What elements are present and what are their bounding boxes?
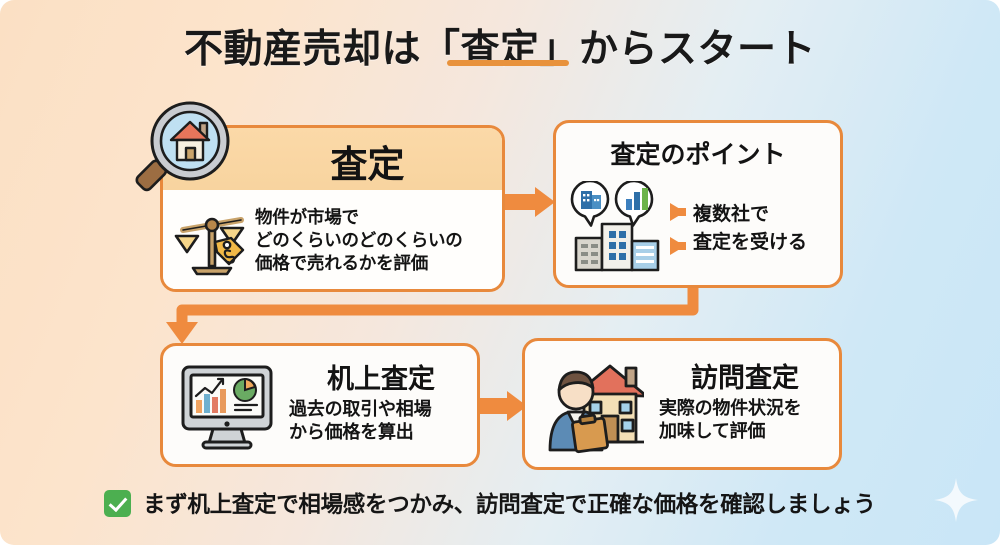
- desc-line: 加味して評価: [659, 420, 839, 443]
- infographic-canvas: 不動産売却は「査定」からスタート 査定: [0, 0, 1000, 545]
- arrow-assessment-to-points-bar: [505, 194, 538, 210]
- bullet-line: 複数社で: [693, 201, 807, 229]
- card-assessment-body: 物件が市場で どのくらいのどのくらいの 価格で売れるかを評価: [163, 190, 502, 291]
- desc-line: 物件が市場で: [255, 206, 463, 229]
- buildings-speech-bubbles-icon: [568, 181, 668, 278]
- card-desktop-description: 過去の取引や相場 から価格を算出: [285, 398, 477, 445]
- title-underline: [447, 60, 569, 66]
- arrow-assessment-to-points-head: [535, 187, 555, 217]
- bullet-line: 査定を受ける: [693, 229, 807, 257]
- green-check-icon: [104, 490, 131, 517]
- card-visit-title: 訪問査定: [651, 364, 839, 394]
- desc-line: から価格を算出: [289, 421, 477, 444]
- card-visit-assessment[interactable]: 訪問査定 実際の物件状況を 加味して評価: [522, 338, 842, 470]
- footer-text: まず机上査定で相場感をつかみ、訪問査定で正確な価格を確認しましょう: [143, 487, 876, 519]
- arrow-desktop-to-visit-bar: [480, 398, 510, 414]
- desc-line: 実際の物件状況を: [659, 397, 839, 420]
- bullet-arrow-icon: [670, 237, 685, 255]
- card-points[interactable]: 査定のポイント: [553, 120, 843, 288]
- card-points-arrows: [670, 203, 685, 255]
- desc-line: 過去の取引や相場: [289, 398, 477, 421]
- desc-line: 価格で売れるかを評価: [255, 252, 463, 275]
- desc-line: どのくらいのどのくらいの: [255, 229, 463, 252]
- four-point-sparkle-icon: [932, 476, 980, 524]
- bullet-arrow-icon: [670, 203, 685, 221]
- card-points-body: 複数社で 査定を受ける: [568, 179, 834, 279]
- card-points-bullets: 複数社で 査定を受ける: [693, 201, 807, 256]
- card-desktop-assessment[interactable]: 机上査定 過去の取引や相場 から価格を算出: [160, 343, 480, 467]
- card-visit-description: 実際の物件状況を 加味して評価: [651, 397, 839, 444]
- footer-note: まず机上査定で相場感をつかみ、訪問査定で正確な価格を確認しましょう: [104, 487, 876, 519]
- agent-house-clipboard-icon: [533, 354, 651, 454]
- card-assessment-description: 物件が市場で どのくらいのどのくらいの 価格で売れるかを評価: [255, 206, 463, 275]
- magnifier-house-icon: [128, 93, 240, 205]
- card-points-title: 査定のポイント: [556, 135, 840, 171]
- card-visit-text: 訪問査定 実際の物件状況を 加味して評価: [651, 364, 839, 443]
- balance-scale-price-tag-icon: [169, 202, 255, 280]
- card-desktop-title: 机上査定: [285, 365, 477, 395]
- card-desktop-text: 机上査定 過去の取引や相場 から価格を算出: [285, 365, 477, 444]
- monitor-charts-icon: [169, 359, 285, 451]
